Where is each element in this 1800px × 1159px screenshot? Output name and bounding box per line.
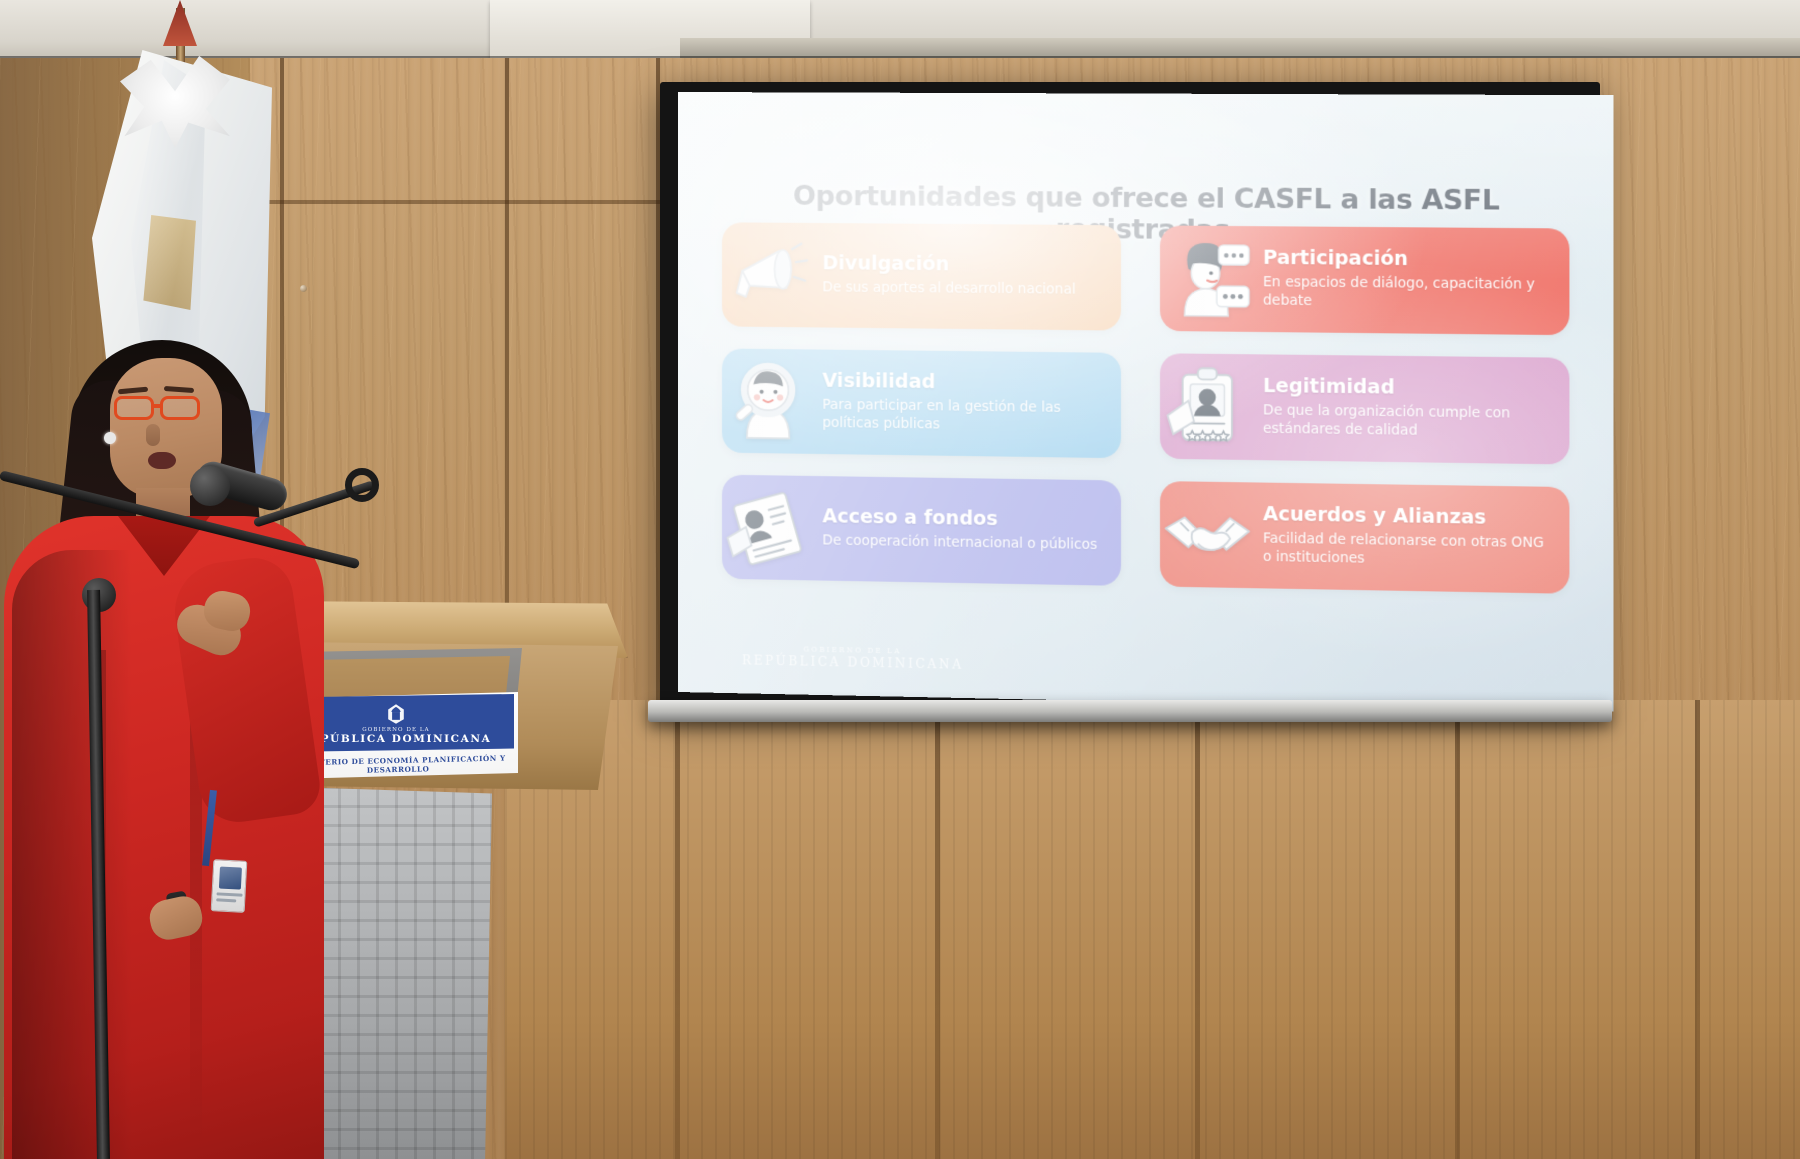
slide-footer-line2: REPÚBLICA DOMINICANA [742,653,964,672]
glasses-lens-right [160,396,200,420]
presentation-scene: Oportunidades que ofrece el CASFL a las … [0,0,1800,1159]
card-description: De sus aportes al desarrollo nacional [822,279,1075,299]
projector-screen: Oportunidades que ofrece el CASFL a las … [678,92,1614,712]
card-description: Facilidad de relacionarse con otras ONG … [1263,531,1557,572]
card-title: Divulgación [822,253,1075,276]
speaker-person [0,320,360,1159]
microphone-head-icon [190,466,230,506]
card-title: Legitimidad [1263,376,1557,401]
document-funds-icon [714,473,822,583]
slide-footer-logo: GOBIERNO DE LA REPÚBLICA DOMINICANA [742,644,964,672]
slide-card-legitimidad: Legitimidad De que la organización cumpl… [1160,353,1569,464]
card-description: De cooperación internacional o públicos [822,532,1097,555]
wall-lower-panels [505,700,1800,1159]
badge-photo [219,867,242,890]
clipboard-rating-icon [1152,351,1263,462]
card-description: Para participar en la gestión de las pol… [822,397,1108,437]
card-text-block: Acuerdos y Alianzas Facilidad de relacio… [1263,504,1569,572]
card-text-block: Visibilidad Para participar en la gestió… [822,371,1121,437]
microphone-clip-ring [345,468,379,502]
credential-badge [211,859,248,913]
slide-card-visibilidad: Visibilidad Para participar en la gestió… [722,348,1121,458]
card-description: De que la organización cumple con estánd… [1263,402,1557,442]
person-speech-bubbles-icon [1152,223,1263,334]
plaque-line1: GOBIERNO DE LA [362,727,430,733]
card-description: En espacios de diálogo, capacitación y d… [1263,274,1557,313]
card-text-block: Participación En espacios de diálogo, ca… [1263,248,1569,314]
glasses-bridge [153,404,162,408]
mouth [148,452,176,469]
slide-card-participacion: Participación En espacios de diálogo, ca… [1160,225,1569,335]
card-title: Visibilidad [822,371,1108,395]
wall-seam-horizontal [250,200,670,204]
nose [146,424,160,446]
megaphone-icon [714,220,822,329]
card-text-block: Divulgación De sus aportes al desarrollo… [822,253,1088,299]
card-text-block: Legitimidad De que la organización cumpl… [1263,376,1569,443]
card-title: Participación [1263,248,1557,272]
slide-card-acuerdos-y-alianzas: Acuerdos y Alianzas Facilidad de relacio… [1160,481,1569,594]
badge-text-line [216,892,242,896]
slide-card-divulgacion: Divulgación De sus aportes al desarrollo… [722,222,1121,330]
slide-content: Oportunidades que ofrece el CASFL a las … [678,92,1614,712]
card-title: Acceso a fondos [822,506,1097,531]
slide-card-acceso-a-fondos: Acceso a fondos De cooperación internaci… [722,475,1121,586]
earring [104,432,116,444]
card-title: Acuerdos y Alianzas [1263,504,1557,530]
glasses-lens-left [114,396,154,420]
dress-shadow [12,550,132,1159]
coat-of-arms-icon [383,702,409,726]
projector-screen-roller [648,700,1612,722]
magnifier-person-icon [714,346,822,456]
card-text-block: Acceso a fondos De cooperación internaci… [822,506,1109,555]
badge-text-line [216,898,236,902]
slide-cards-grid: Divulgación De sus aportes al desarrollo… [722,222,1569,593]
handshake-icon [1152,479,1263,590]
wall-bolt [300,285,307,292]
